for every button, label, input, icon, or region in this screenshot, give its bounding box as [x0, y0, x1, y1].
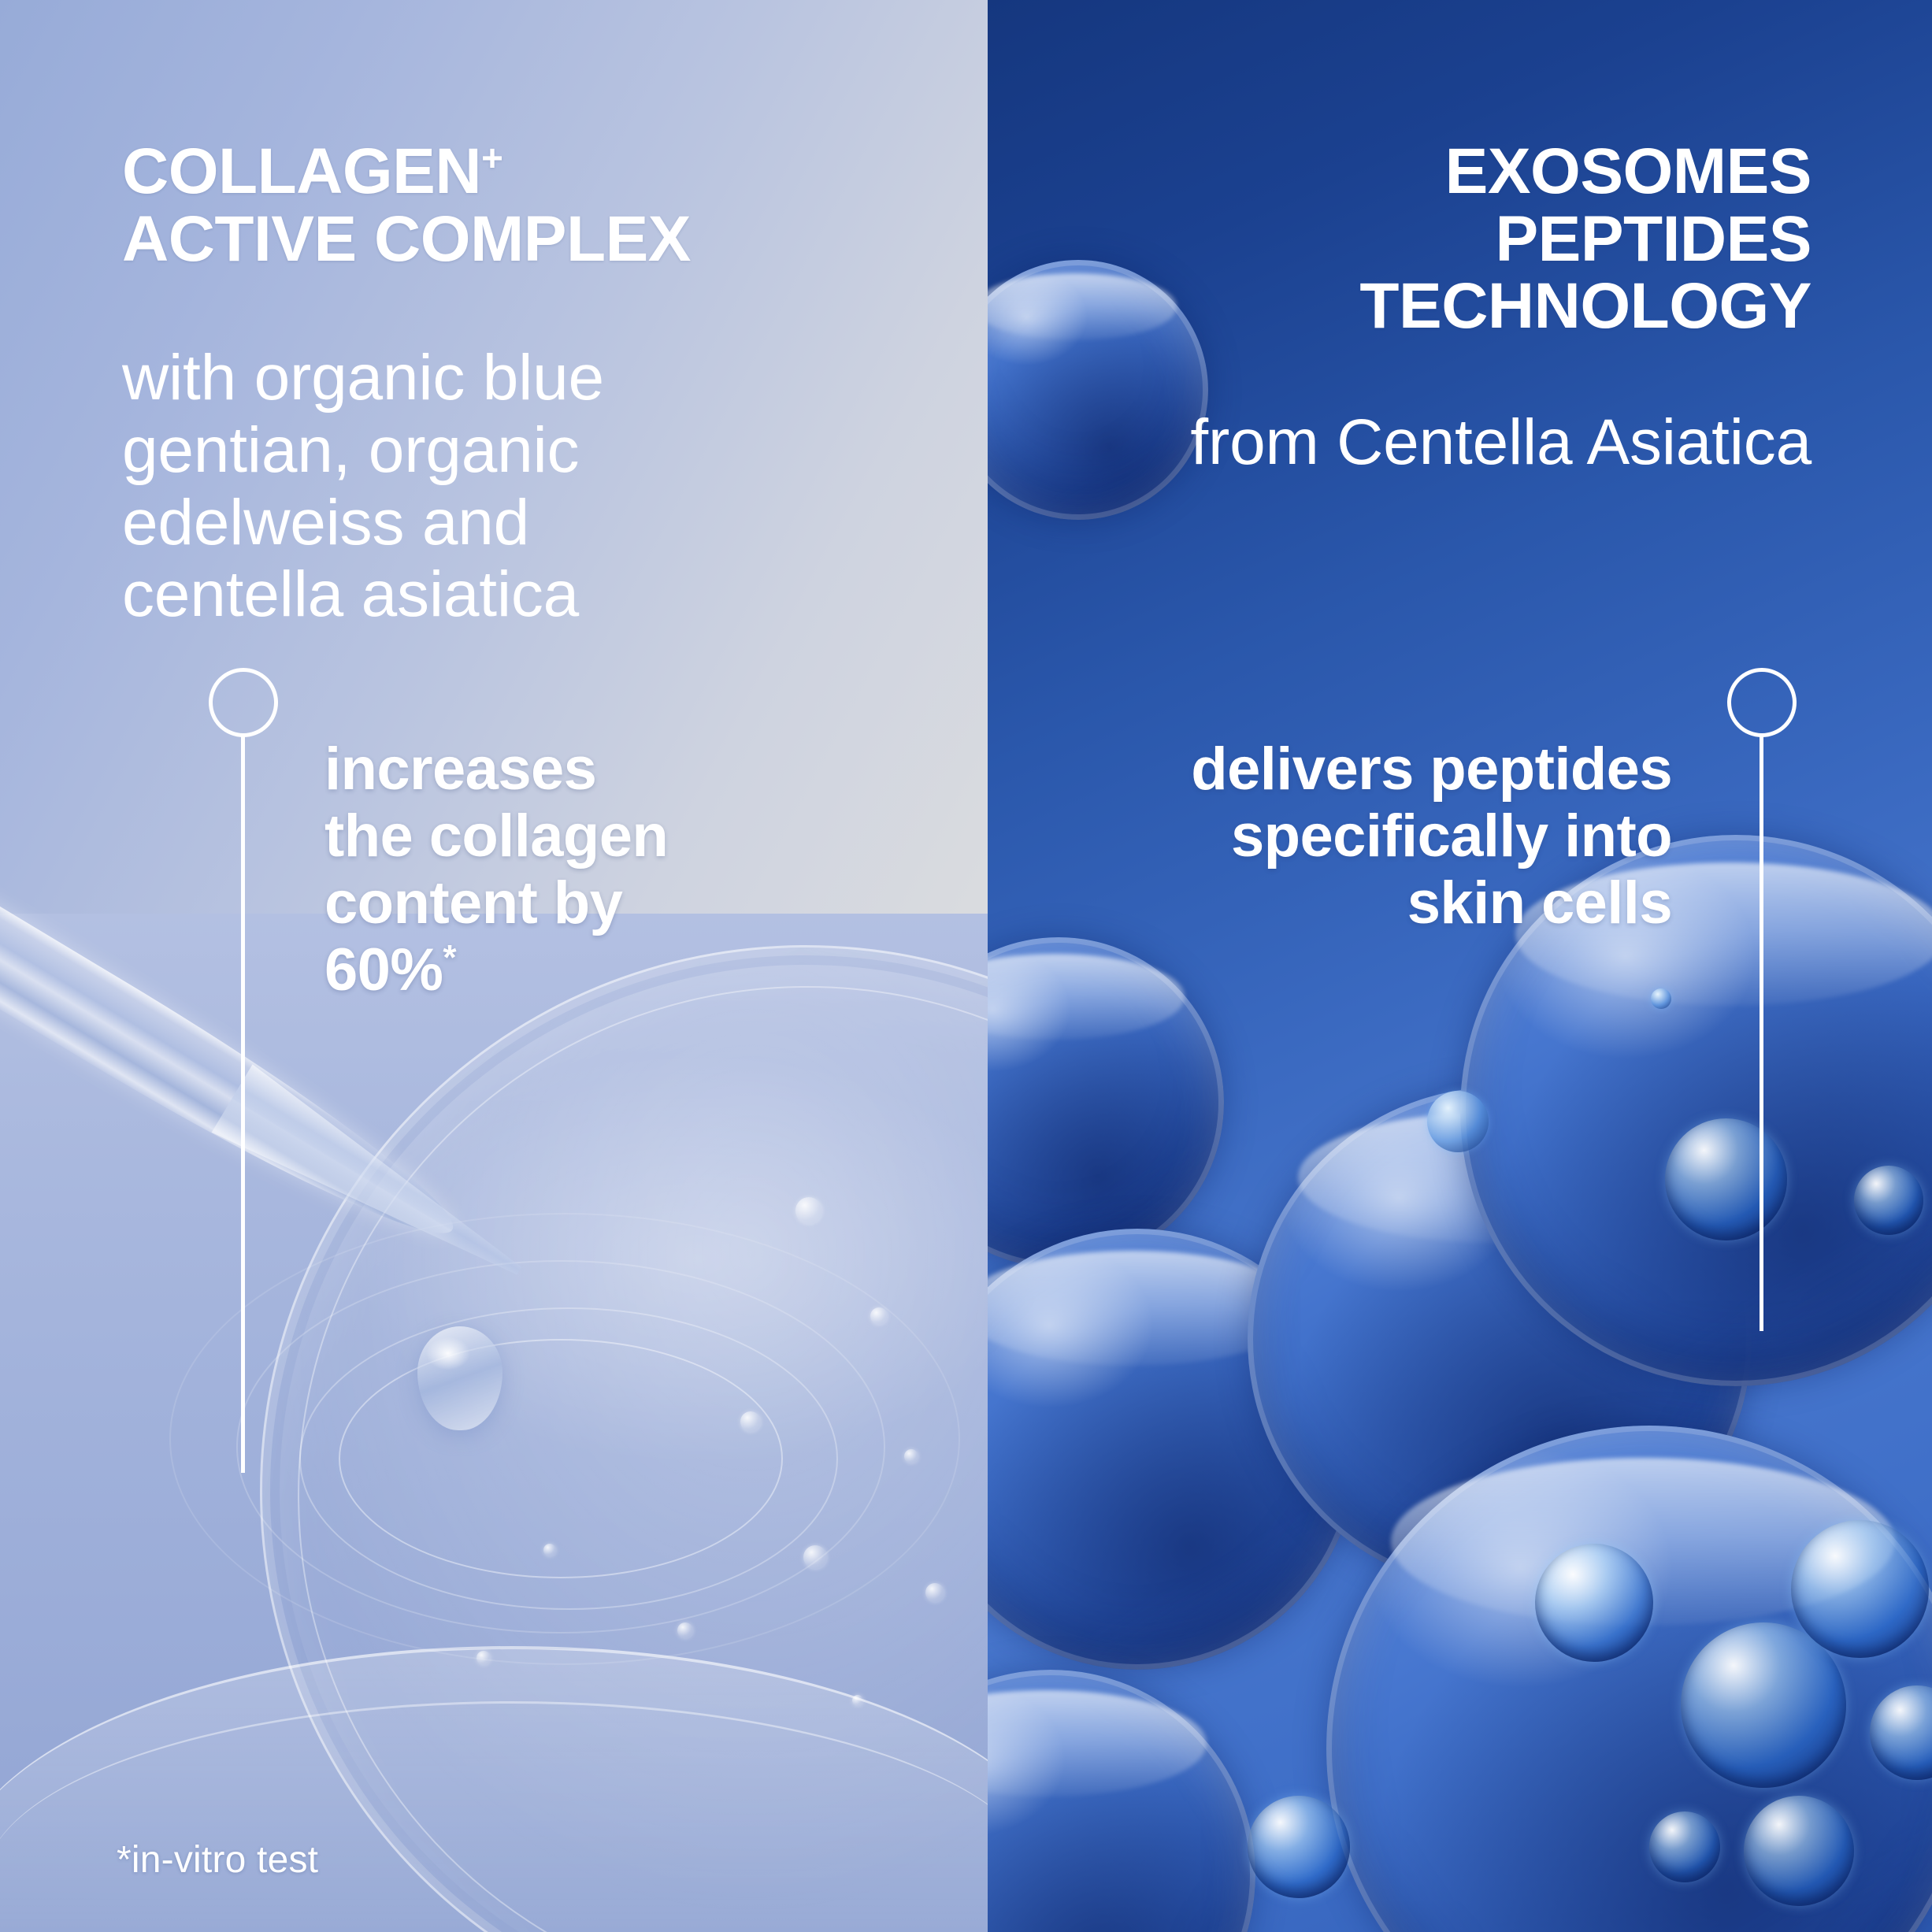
marker-stem-line	[1760, 734, 1763, 1331]
small-bubble	[1651, 988, 1671, 1009]
ripple-ring-1	[339, 1339, 783, 1578]
inner-droplet	[1649, 1811, 1720, 1882]
inner-droplet	[1791, 1520, 1929, 1658]
inner-droplet	[1535, 1544, 1653, 1662]
liquid-bubble	[925, 1583, 944, 1602]
inner-droplet	[1681, 1622, 1846, 1788]
marker-stem-line	[241, 734, 245, 1473]
left-headline-line1: COLLAGEN	[122, 135, 481, 207]
left-callout-text: increases the collagen content by 60%*	[324, 736, 668, 1003]
inner-droplet	[1665, 1118, 1787, 1240]
right-subhead: from Centella Asiatica	[1190, 406, 1811, 479]
right-headline: EXOSOMES PEPTIDES TECHNOLOGY	[1359, 138, 1811, 340]
molecular-sphere	[988, 260, 1208, 520]
inner-droplet	[1854, 1166, 1923, 1235]
liquid-bubble	[795, 1197, 822, 1224]
liquid-bubble	[740, 1411, 761, 1432]
left-callout-superscript: *	[443, 939, 456, 977]
liquid-bubble	[904, 1449, 918, 1463]
inner-droplet	[1248, 1796, 1350, 1898]
molecular-sphere	[988, 1670, 1255, 1932]
liquid-bubble	[870, 1307, 888, 1325]
right-callout-text: delivers peptides specifically into skin…	[1191, 736, 1672, 936]
left-subhead: with organic blue gentian, organic edelw…	[122, 342, 768, 631]
left-headline-superscript: +	[481, 138, 502, 180]
left-callout-body: increases the collagen content by 60%	[324, 736, 668, 1003]
inner-droplet	[1744, 1796, 1854, 1906]
molecular-sphere	[988, 937, 1224, 1268]
small-bubble	[1427, 1091, 1489, 1152]
circle-marker-icon	[1727, 668, 1797, 737]
circle-marker-icon	[209, 668, 278, 737]
liquid-bubble	[543, 1544, 556, 1556]
left-headline-line2: ACTIVE COMPLEX	[122, 203, 691, 275]
footnote: *in-vitro test	[117, 1838, 318, 1882]
liquid-bubble	[677, 1622, 693, 1638]
product-infographic: COLLAGEN+ACTIVE COMPLEX with organic blu…	[0, 0, 1932, 1932]
left-headline: COLLAGEN+ACTIVE COMPLEX	[122, 138, 691, 273]
liquid-bubble	[803, 1545, 827, 1569]
